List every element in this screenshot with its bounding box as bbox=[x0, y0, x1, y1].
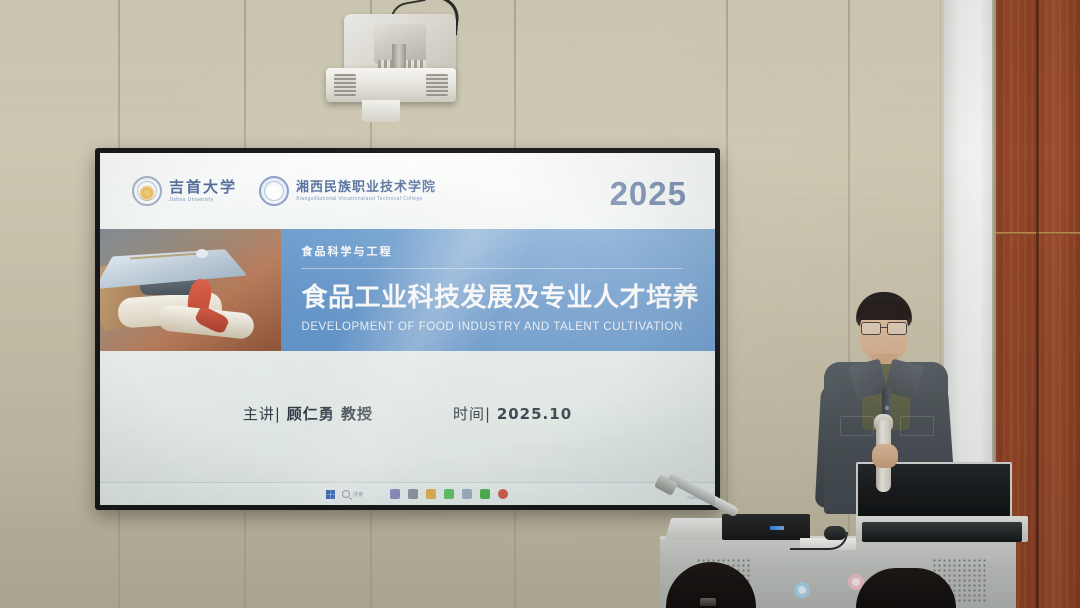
meta-separator: | bbox=[275, 405, 281, 423]
projector-side-vent bbox=[426, 74, 448, 96]
date-meta-value: 2025.10 bbox=[497, 405, 572, 423]
lecture-hall-scene: 吉首大学 Jishou University 湘西民族职业技术学院 Xiangx… bbox=[0, 0, 1080, 608]
logo-name-cn: 吉首大学 bbox=[169, 180, 237, 195]
logo-xiangxi-college: 湘西民族职业技术学院 XiangxiNational Vocationaland… bbox=[259, 176, 436, 206]
presenter-hair-front bbox=[857, 300, 911, 320]
slide-hero-band: 食品科学与工程 食品工业科技发展及专业人才培养 DEVELOPMENT OF F… bbox=[100, 229, 715, 351]
app-icon-green[interactable] bbox=[480, 489, 490, 499]
logo-name-en: Jishou University bbox=[169, 198, 237, 203]
date-meta-label: 时间 bbox=[453, 405, 485, 423]
windows-taskbar[interactable]: 搜索 中 2025/10 bbox=[100, 482, 715, 505]
projector-side-vent bbox=[334, 74, 356, 96]
presenter-meta-label: 主讲 bbox=[243, 405, 275, 423]
presentation-slide: 吉首大学 Jishou University 湘西民族职业技术学院 Xiangx… bbox=[100, 153, 715, 483]
presenter-hand bbox=[872, 444, 898, 468]
presenter-meta-value: 顾仁勇 教授 bbox=[287, 405, 373, 423]
glasses-icon bbox=[860, 322, 908, 333]
app-icon-folder[interactable] bbox=[426, 489, 436, 499]
wood-panel-divider bbox=[1036, 0, 1039, 608]
wall-mounted-display[interactable]: 吉首大学 Jishou University 湘西民族职业技术学院 Xiangx… bbox=[95, 148, 720, 510]
flower-blue-icon bbox=[794, 582, 810, 598]
app-icon-explorer[interactable] bbox=[408, 489, 418, 499]
date-meta: 时间| 2025.10 bbox=[453, 403, 572, 424]
app-icon-cursor[interactable] bbox=[462, 489, 472, 499]
slide-logo-bar: 吉首大学 Jishou University 湘西民族职业技术学院 Xiangx… bbox=[100, 153, 715, 229]
logo-name-en: XiangxiNational Vocationaland Technical … bbox=[296, 197, 436, 202]
amplifier-led-icon bbox=[770, 526, 784, 530]
logo-name-cn: 湘西民族职业技术学院 bbox=[296, 181, 436, 194]
hair-clip-icon bbox=[700, 598, 716, 606]
slide-headline: 食品工业科技发展及专业人才培养 bbox=[301, 277, 699, 314]
search-icon bbox=[342, 490, 350, 498]
app-icon-wechat[interactable] bbox=[444, 489, 454, 499]
glasses-lens-right bbox=[887, 322, 907, 335]
jishou-university-emblem-icon bbox=[132, 176, 162, 206]
meta-separator: | bbox=[485, 405, 491, 423]
glasses-lens-left bbox=[861, 322, 881, 335]
podium-mouse[interactable] bbox=[824, 526, 846, 540]
logo-text-block: 吉首大学 Jishou University bbox=[169, 180, 237, 203]
search-placeholder: 搜索 bbox=[353, 491, 364, 498]
cap-button bbox=[196, 249, 208, 258]
taskbar-left-group: 搜索 bbox=[326, 490, 364, 499]
jacket-pocket-left bbox=[840, 416, 874, 436]
slide-year: 2025 bbox=[610, 175, 687, 213]
divider bbox=[301, 268, 683, 269]
taskbar-app-icons bbox=[390, 489, 508, 499]
ceiling-projector bbox=[316, 0, 476, 125]
jacket-pocket-right bbox=[900, 416, 934, 436]
projector-body bbox=[326, 68, 456, 102]
logo-text-block: 湘西民族职业技术学院 XiangxiNational Vocationaland… bbox=[296, 181, 436, 202]
search-box[interactable]: 搜索 bbox=[342, 490, 364, 498]
presenter-meta: 主讲| 顾仁勇 教授 bbox=[243, 403, 373, 424]
jacket-button bbox=[885, 406, 889, 410]
slide-title-block: 食品科学与工程 食品工业科技发展及专业人才培养 DEVELOPMENT OF F… bbox=[281, 229, 715, 351]
app-icon-teams[interactable] bbox=[390, 489, 400, 499]
graduation-cap-image bbox=[100, 229, 281, 351]
logo-jishou-university: 吉首大学 Jishou University bbox=[132, 176, 237, 206]
display-panel: 吉首大学 Jishou University 湘西民族职业技术学院 Xiangx… bbox=[100, 153, 715, 505]
start-button-icon[interactable] bbox=[326, 490, 335, 499]
slide-eyebrow: 食品科学与工程 bbox=[301, 243, 699, 259]
podium-monitor-slot bbox=[862, 522, 1022, 542]
app-icon-red[interactable] bbox=[498, 489, 508, 499]
slide-meta-row: 主讲| 顾仁勇 教授 时间| 2025.10 bbox=[100, 403, 715, 424]
slide-subtitle-en: DEVELOPMENT OF FOOD INDUSTRY AND TALENT … bbox=[301, 321, 699, 333]
xiangxi-college-emblem-icon bbox=[259, 176, 289, 206]
projector-lens bbox=[362, 100, 400, 122]
